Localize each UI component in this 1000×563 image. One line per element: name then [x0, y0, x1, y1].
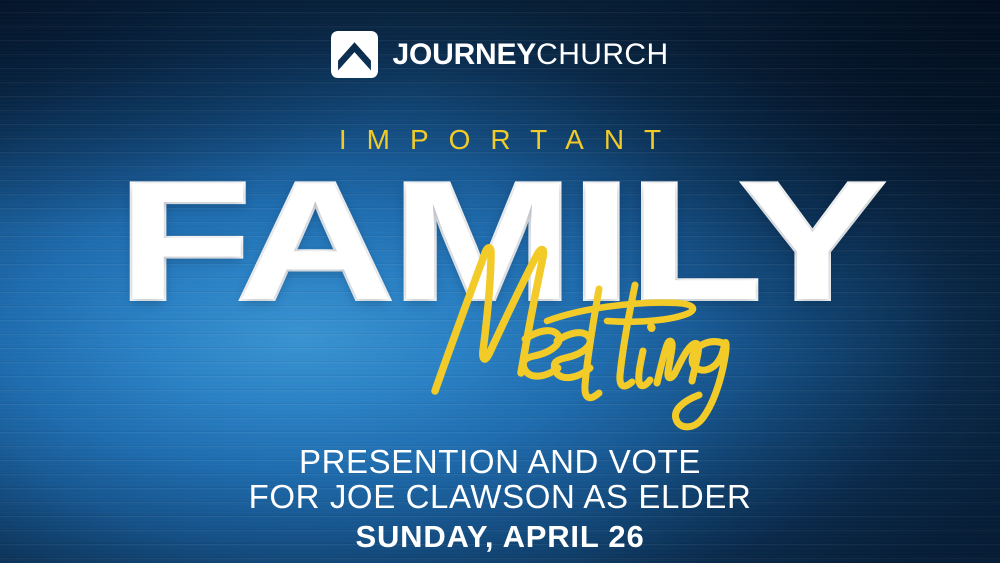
brand-wordmark-church: CHURCH: [536, 40, 668, 70]
event-detail-line-1: PRESENTION AND VOTE: [0, 444, 1000, 479]
event-details: PRESENTION AND VOTE FOR JOE CLAWSON AS E…: [0, 444, 1000, 556]
journey-chevron-mark-icon: [331, 31, 378, 78]
brand-wordmark-journey: JOURNEY: [392, 40, 536, 70]
event-date: SUNDAY, APRIL 26: [0, 518, 1000, 557]
family-meeting-announcement-graphic: JOURNEYCHURCH IMPORTANT FAMILY PRESENTIO…: [0, 0, 1000, 563]
brand-logo-lockup: JOURNEYCHURCH: [0, 31, 1000, 78]
eyebrow-important: IMPORTANT: [0, 126, 1000, 154]
event-detail-line-2: FOR JOE CLAWSON AS ELDER: [0, 479, 1000, 514]
headline-meeting-script: [421, 223, 741, 435]
brand-wordmark: JOURNEYCHURCH: [392, 40, 668, 70]
